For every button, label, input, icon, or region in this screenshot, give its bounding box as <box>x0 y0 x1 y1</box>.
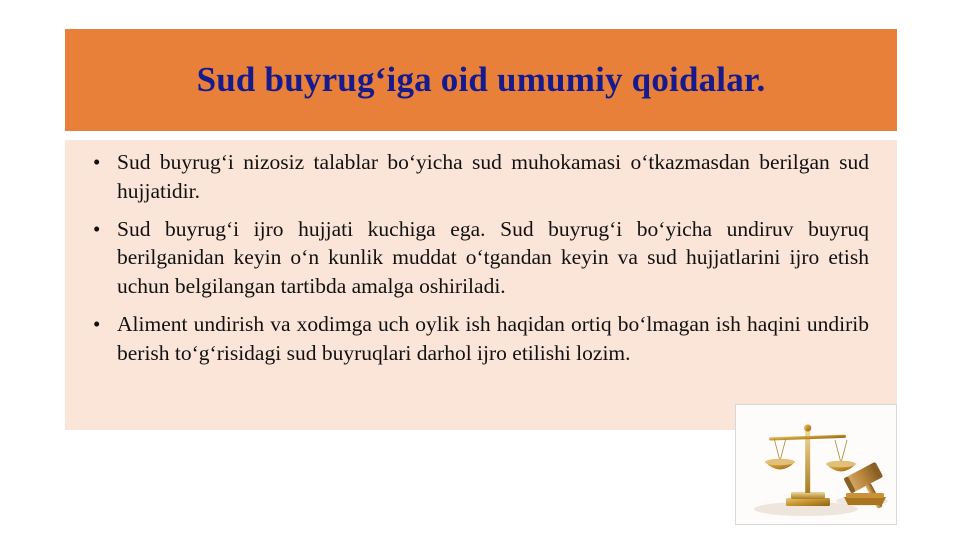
bullet-dot-icon: • <box>93 310 100 338</box>
slide: Sud buyrug‘iga oid umumiy qoidalar. • Su… <box>0 0 961 540</box>
slide-title-band: Sud buyrug‘iga oid umumiy qoidalar. <box>65 29 897 131</box>
page-title: Sud buyrug‘iga oid umumiy qoidalar. <box>197 61 766 100</box>
scales-and-gavel-photo <box>735 404 897 525</box>
scales-and-gavel-illustration <box>736 405 896 524</box>
bullet-list: • Sud buyrug‘i nizosiz talablar bo‘yicha… <box>65 148 897 368</box>
list-item: • Sud buyrug‘i ijro hujjati kuchiga ega.… <box>83 215 869 301</box>
bullet-dot-icon: • <box>93 148 100 176</box>
list-item-text: Sud buyrug‘i ijro hujjati kuchiga ega. S… <box>117 215 869 301</box>
list-item: • Aliment undirish va xodimga uch oylik … <box>83 310 869 368</box>
list-item-text: Sud buyrug‘i nizosiz talablar bo‘yicha s… <box>117 148 869 206</box>
bullet-dot-icon: • <box>93 215 100 243</box>
slide-body-panel: • Sud buyrug‘i nizosiz talablar bo‘yicha… <box>65 140 897 430</box>
list-item-text: Aliment undirish va xodimga uch oylik is… <box>117 310 869 368</box>
list-item: • Sud buyrug‘i nizosiz talablar bo‘yicha… <box>83 148 869 206</box>
